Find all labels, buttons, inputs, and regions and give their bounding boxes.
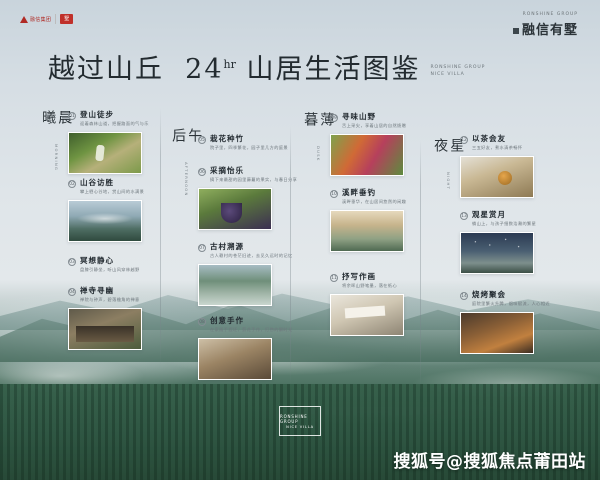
item-desc: 庭院里繁火升腾，烟味赋流，人心相近: [472, 301, 550, 307]
item-head: 10 溪畔垂钓 溪畔垂华，在山居间悠然的闲趣: [330, 188, 406, 205]
list-item[interactable]: 02 山谷访胜 攀上栖心谷地，赏山间的水满景: [68, 178, 144, 242]
item-number: 05: [198, 136, 206, 144]
item-desc: 三五好友，煮水清茶畅怀: [472, 145, 522, 151]
ronshine-logo-icon: 融信集团: [20, 16, 51, 23]
item-thumbnail[interactable]: [198, 188, 272, 230]
item-thumbnail[interactable]: [460, 156, 534, 198]
item-number: 14: [460, 292, 468, 300]
item-number: 11: [330, 274, 338, 282]
item-desc: 攀上栖心谷地，赏山间的水满景: [80, 189, 144, 195]
item-head: 07 古村溯源 古人赖村的苍茫旧迹，去见久远时的记忆: [198, 242, 293, 259]
item-desc: 迎着森林山道，把握路面的气与乐: [80, 121, 149, 127]
item-desc: 在家随手捏坯，剪花手作，打捞的解时光: [210, 327, 293, 333]
item-desc: 院子里，四季繁花，园子里几方的庭景: [210, 145, 288, 151]
item-number: 09: [330, 114, 338, 122]
list-item[interactable]: 03 冥想静心 盘膝引静坐，听山风穿林越野: [68, 256, 140, 273]
list-item[interactable]: 08 创意手作 在家随手捏坯，剪花手作，打捞的解时光: [198, 316, 293, 380]
item-head: 09 寻味山野 舌上采尖，享着山居的自然馈赠: [330, 112, 406, 129]
item-desc: 古人赖村的苍茫旧迹，去见久远时的记忆: [210, 253, 293, 259]
item-head: 12 以茶会友 三五好友，煮水清茶畅怀: [460, 134, 534, 151]
title-part1: 越过山丘: [48, 54, 164, 85]
title-hour-number: 24: [185, 54, 223, 85]
item-head: 11 抒写作画 将余晖山野笔墨，落在纸心: [330, 272, 404, 289]
item-title: 采摘怡乐: [210, 166, 297, 175]
column-heading-en-afternoon: AFTERNOON: [184, 162, 189, 197]
title-en-line1: RONSHINE GROUP: [430, 64, 485, 71]
title-hour-unit: hr: [224, 58, 236, 71]
brand-right-sub: RONSHINE GROUP: [513, 12, 578, 17]
item-title: 冥想静心: [80, 256, 140, 265]
list-item[interactable]: 09 寻味山野 舌上采尖，享着山居的自然馈赠: [330, 112, 406, 176]
item-desc: 舌上采尖，享着山居的自然馈赠: [342, 123, 406, 129]
list-item[interactable]: 13 观星赏月 躺山上，与孩子细数浩瀚的繁星: [460, 210, 536, 274]
item-desc: 躺山上，与孩子细数浩瀚的繁星: [472, 221, 536, 227]
item-thumbnail[interactable]: [68, 200, 142, 242]
activity-columns: 晨曦 MORNING 01 登山徒步 迎着森林山道，把握路面的气与乐 02 山谷…: [34, 104, 574, 394]
item-title: 溪畔垂钓: [342, 188, 406, 197]
column-heading-en-night: NIGHT: [446, 172, 451, 190]
square-mark-icon: [513, 28, 519, 34]
item-title: 抒写作画: [342, 272, 397, 281]
list-item[interactable]: 04 禅寺寻幽 禅院与钟声，碧落檐角的禅意: [68, 286, 142, 350]
item-thumbnail[interactable]: [460, 232, 534, 274]
brand-right: RONSHINE GROUP 融信有墅: [513, 12, 578, 38]
item-desc: 禅院与钟声，碧落檐角的禅意: [80, 297, 140, 303]
item-head: 04 禅寺寻幽 禅院与钟声，碧落檐角的禅意: [68, 286, 142, 303]
item-title: 登山徒步: [80, 110, 149, 119]
item-number: 10: [330, 190, 338, 198]
brand-left: 融信集团 墅: [20, 14, 73, 24]
item-number: 02: [68, 180, 76, 188]
list-item[interactable]: 12 以茶会友 三五好友，煮水清茶畅怀: [460, 134, 534, 198]
list-item[interactable]: 01 登山徒步 迎着森林山道，把握路面的气与乐: [68, 110, 149, 174]
column-separator-3: [420, 140, 421, 390]
brand-right-name: 融信有墅: [513, 19, 578, 38]
item-number: 07: [198, 244, 206, 252]
list-item[interactable]: 10 溪畔垂钓 溪畔垂华，在山居间悠然的闲趣: [330, 188, 406, 252]
brand-left-name: 融信集团: [30, 16, 51, 23]
triangle-icon: [20, 16, 28, 23]
item-head: 03 冥想静心 盘膝引静坐，听山风穿林越野: [68, 256, 140, 273]
column-heading-en-dusk: DUSK: [316, 146, 321, 161]
item-number: 06: [198, 168, 206, 176]
list-item[interactable]: 07 古村溯源 古人赖村的苍茫旧迹，去见久远时的记忆: [198, 242, 293, 306]
brand-chip: 墅: [60, 14, 73, 24]
item-thumbnail[interactable]: [198, 338, 272, 380]
item-number: 12: [460, 136, 468, 144]
title-row: 越过山丘 24hr 山居生活图鉴 RONSHINE GROUP NICE VIL…: [48, 56, 485, 83]
item-thumbnail[interactable]: [330, 210, 404, 252]
watermark: 搜狐号@搜狐焦点莆田站: [394, 447, 587, 472]
footer-logo-line1: RONSHINE GROUP: [280, 414, 320, 424]
item-head: 02 山谷访胜 攀上栖心谷地，赏山间的水满景: [68, 178, 144, 195]
item-head: 05 栽花种竹 院子里，四季繁花，园子里几方的庭景: [198, 134, 288, 151]
title-part2: 山居生活图鉴: [246, 54, 420, 85]
item-number: 04: [68, 288, 76, 296]
item-title: 观星赏月: [472, 210, 536, 219]
item-desc: 溪畔垂华，在山居间悠然的闲趣: [342, 199, 406, 205]
item-title: 栽花种竹: [210, 134, 288, 143]
item-title: 古村溯源: [210, 242, 293, 251]
item-thumbnail[interactable]: [68, 308, 142, 350]
item-thumbnail[interactable]: [68, 132, 142, 174]
brand-divider: [55, 14, 56, 24]
item-head: 13 观星赏月 躺山上，与孩子细数浩瀚的繁星: [460, 210, 536, 227]
item-thumbnail[interactable]: [198, 264, 272, 306]
item-thumbnail[interactable]: [460, 312, 534, 354]
item-desc: 摘下来最甜的园里藤蔓的果实，与春日分享: [210, 177, 297, 183]
item-number: 01: [68, 112, 76, 120]
footer-logo-line2: NICE VILLA: [286, 425, 314, 429]
item-title: 以茶会友: [472, 134, 522, 143]
item-title: 烧烤聚会: [472, 290, 550, 299]
footer-logo: RONSHINE GROUP NICE VILLA: [279, 406, 321, 436]
item-number: 03: [68, 258, 76, 266]
column-separator-1: [160, 108, 161, 368]
item-thumbnail[interactable]: [330, 134, 404, 176]
title-english: RONSHINE GROUP NICE VILLA: [430, 64, 485, 83]
item-thumbnail[interactable]: [330, 294, 404, 336]
item-title: 山谷访胜: [80, 178, 144, 187]
column-heading-en-morning: MORNING: [54, 144, 59, 171]
item-head: 01 登山徒步 迎着森林山道，把握路面的气与乐: [68, 110, 149, 127]
title-en-line2: NICE VILLA: [430, 71, 485, 78]
list-item[interactable]: 14 烧烤聚会 庭院里繁火升腾，烟味赋流，人心相近: [460, 290, 550, 354]
item-head: 14 烧烤聚会 庭院里繁火升腾，烟味赋流，人心相近: [460, 290, 550, 307]
poster-canvas: 融信集团 墅 RONSHINE GROUP 融信有墅 越过山丘 24hr 山居生…: [0, 0, 600, 480]
item-head: 08 创意手作 在家随手捏坯，剪花手作，打捞的解时光: [198, 316, 293, 333]
list-item[interactable]: 11 抒写作画 将余晖山野笔墨，落在纸心: [330, 272, 404, 336]
item-title: 禅寺寻幽: [80, 286, 140, 295]
list-item[interactable]: 05 栽花种竹 院子里，四季繁花，园子里几方的庭景: [198, 134, 288, 151]
item-number: 13: [460, 212, 468, 220]
item-desc: 盘膝引静坐，听山风穿林越野: [80, 267, 140, 273]
item-title: 创意手作: [210, 316, 293, 325]
item-head: 06 采摘怡乐 摘下来最甜的园里藤蔓的果实，与春日分享: [198, 166, 297, 183]
item-number: 08: [198, 318, 206, 326]
item-desc: 将余晖山野笔墨，落在纸心: [342, 283, 397, 289]
page-title: 越过山丘 24hr 山居生活图鉴: [48, 56, 420, 83]
item-title: 寻味山野: [342, 112, 406, 121]
list-item[interactable]: 06 采摘怡乐 摘下来最甜的园里藤蔓的果实，与春日分享: [198, 166, 297, 230]
